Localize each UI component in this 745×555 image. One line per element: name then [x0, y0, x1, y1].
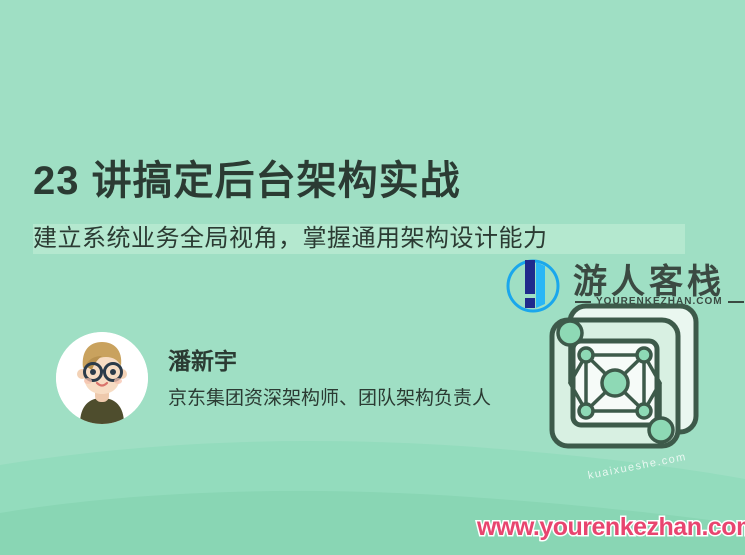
- page-subtitle: 建立系统业务全局视角，掌握通用架构设计能力: [33, 222, 548, 256]
- avatar: [56, 332, 148, 424]
- subtitle-block: 建立系统业务全局视角，掌握通用架构设计能力: [33, 222, 548, 256]
- author-name: 潘新宇: [168, 342, 237, 376]
- footer-url: www.yourenkezhan.com: [477, 513, 745, 542]
- course-cover-poster: 23 讲搞定后台架构实战 建立系统业务全局视角，掌握通用架构设计能力: [0, 0, 745, 555]
- architecture-network-icon: [540, 300, 705, 460]
- author-role: 京东集团资深架构师、团队架构负责人: [168, 383, 491, 410]
- avatar-illustration-icon: [56, 332, 148, 424]
- page-title: 23 讲搞定后台架构实战: [33, 148, 461, 206]
- dash-right-icon: [728, 301, 744, 303]
